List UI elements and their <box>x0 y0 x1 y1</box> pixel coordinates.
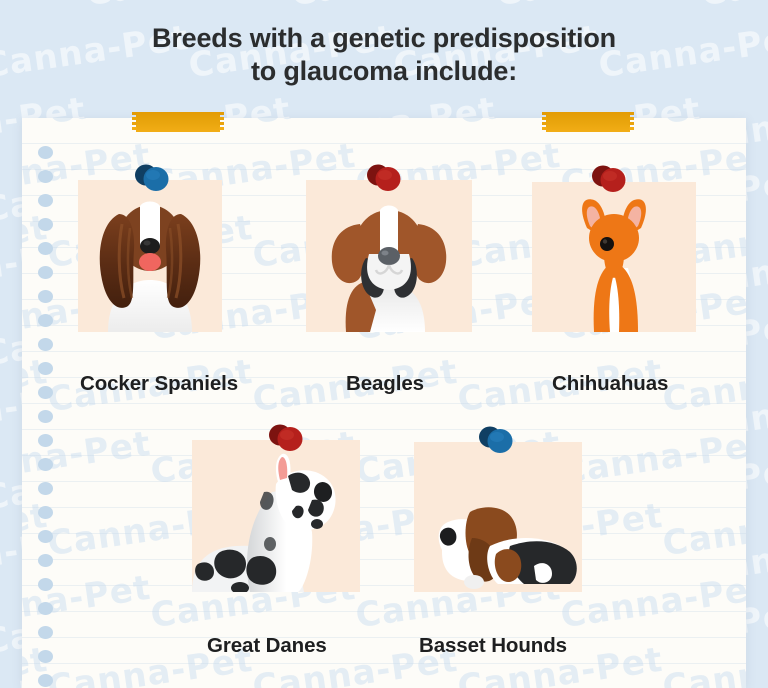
binding-hole <box>38 530 53 543</box>
binding-hole <box>38 194 53 207</box>
watermark-text: Canna-Pet <box>0 0 88 14</box>
breed-photo-cocker-spaniel <box>78 180 222 332</box>
breed-photo-basset-hound <box>414 442 582 592</box>
binding-hole <box>38 218 53 231</box>
breed-label-cocker-spaniel: Cocker Spaniels <box>80 372 238 396</box>
spiral-binding <box>38 118 62 688</box>
tape-right <box>546 112 630 132</box>
watermark-text: Canna-Pet <box>558 424 746 492</box>
page-title-line-2: to glaucoma include: <box>0 55 768 88</box>
breed-photo-chihuahua <box>532 182 696 332</box>
binding-hole <box>38 578 53 591</box>
watermark-text: Canna-Pet <box>660 640 746 688</box>
breed-photo-great-dane <box>192 440 360 592</box>
binding-hole <box>38 170 53 183</box>
tape-left <box>136 112 220 132</box>
binding-hole <box>38 314 53 327</box>
page-title-line-1: Breeds with a genetic predisposition <box>0 22 768 55</box>
watermark-text: Canna-Pet <box>660 496 746 564</box>
watermark-text: Canna-Pet <box>493 0 703 14</box>
breed-label-beagle: Beagles <box>346 372 424 396</box>
watermark-text: Canna-Pet <box>558 568 746 636</box>
binding-hole <box>38 674 53 687</box>
binding-hole <box>38 602 53 615</box>
breed-card-cocker-spaniel[interactable] <box>78 180 222 332</box>
breed-card-basset-hound[interactable] <box>414 442 582 592</box>
watermark-text: Canna-Pet <box>660 352 746 420</box>
binding-hole <box>38 146 53 159</box>
watermark-text: Canna-Pet <box>660 118 746 132</box>
breed-label-chihuahua: Chihuahuas <box>552 372 668 396</box>
watermark-text: Canna-Pet <box>698 0 768 14</box>
binding-hole <box>38 242 53 255</box>
binding-hole <box>38 290 53 303</box>
binding-hole <box>38 362 53 375</box>
binding-hole <box>38 506 53 519</box>
breed-photo-beagle <box>306 180 472 332</box>
binding-hole <box>38 554 53 567</box>
watermark-text: Canna-Pet <box>250 118 460 132</box>
watermark-text: Canna-Pet <box>83 0 293 14</box>
binding-hole <box>38 626 53 639</box>
breed-label-great-dane: Great Danes <box>207 634 327 658</box>
breed-card-great-dane[interactable] <box>192 440 360 592</box>
breed-card-beagle[interactable] <box>306 180 472 332</box>
binding-hole <box>38 266 53 279</box>
binding-hole <box>38 650 53 663</box>
binding-hole <box>38 482 53 495</box>
binding-hole <box>38 458 53 471</box>
binding-hole <box>38 386 53 399</box>
binding-hole <box>38 410 53 423</box>
binding-hole <box>38 434 53 447</box>
page-title: Breeds with a genetic predisposition to … <box>0 22 768 88</box>
breed-card-chihuahua[interactable] <box>532 182 696 332</box>
binding-hole <box>38 338 53 351</box>
watermark-text: Canna-Pet <box>288 0 498 14</box>
infographic-canvas: Canna-PetCanna-PetCanna-PetCanna-PetCann… <box>0 0 768 688</box>
breed-label-basset-hound: Basset Hounds <box>419 634 567 658</box>
